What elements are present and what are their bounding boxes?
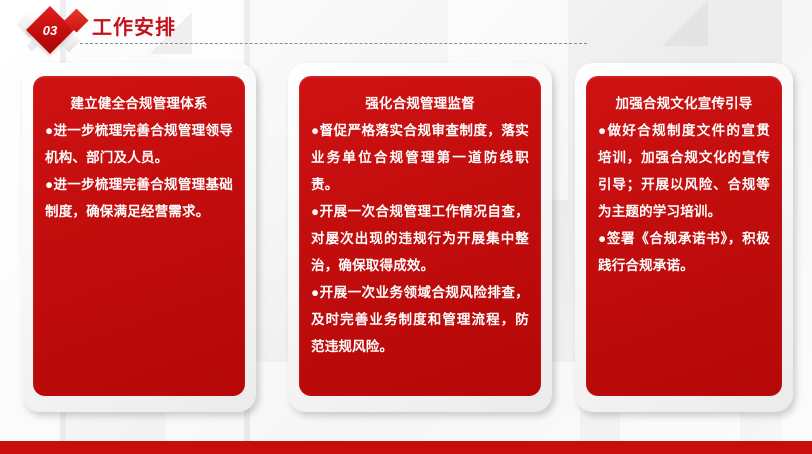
slide-canvas: 03 工作安排 建立健全合规管理体系 ●进一步梳理完善合规管理领导机构、部门及人…	[0, 0, 812, 454]
content-card[interactable]: 强化合规管理监督 ●督促严格落实合规审查制度，落实业务单位合规管理第一道防线职责…	[288, 63, 552, 412]
content-card-panel: 建立健全合规管理体系 ●进一步梳理完善合规管理领导机构、部门及人员。 ●进一步梳…	[33, 76, 245, 396]
content-card-heading: 建立健全合规管理体系	[45, 90, 233, 117]
content-card-body: 强化合规管理监督 ●督促严格落实合规审查制度，落实业务单位合规管理第一道防线职责…	[299, 76, 541, 370]
content-card-bullet: ●开展一次业务领域合规风险排查，及时完善业务制度和管理流程，防范违规风险。	[311, 279, 529, 360]
content-card-bullet: ●做好合规制度文件的宣贯培训，加强合规文化的宣传引导；开展以风险、合规等为主题的…	[598, 117, 770, 225]
content-card-bullet: ●进一步梳理完善合规管理领导机构、部门及人员。	[45, 117, 233, 171]
content-card-body: 建立健全合规管理体系 ●进一步梳理完善合规管理领导机构、部门及人员。 ●进一步梳…	[33, 76, 245, 235]
content-card-bullet: ●签署《合规承诺书》，积极践行合规承诺。	[598, 225, 770, 279]
content-card-heading: 加强合规文化宣传引导	[598, 90, 770, 117]
content-card-heading: 强化合规管理监督	[311, 90, 529, 117]
slide-header: 03 工作安排	[0, 0, 812, 58]
content-card-body: 加强合规文化宣传引导 ●做好合规制度文件的宣贯培训，加强合规文化的宣传引导；开展…	[586, 76, 782, 289]
content-card-bullet: ●督促严格落实合规审查制度，落实业务单位合规管理第一道防线职责。	[311, 117, 529, 198]
footer-accent-bar	[0, 441, 812, 454]
content-card-panel: 强化合规管理监督 ●督促严格落实合规审查制度，落实业务单位合规管理第一道防线职责…	[299, 76, 541, 396]
content-card-bullet: ●开展一次合规管理工作情况自查，对屡次出现的违规行为开展集中整治，确保取得成效。	[311, 198, 529, 279]
section-number-badge: 03	[33, 13, 67, 47]
content-card-bullet: ●进一步梳理完善合规管理基础制度，确保满足经营需求。	[45, 171, 233, 225]
content-card[interactable]: 加强合规文化宣传引导 ●做好合规制度文件的宣贯培训，加强合规文化的宣传引导；开展…	[575, 63, 793, 412]
page-title: 工作安排	[92, 11, 176, 40]
content-card-panel: 加强合规文化宣传引导 ●做好合规制度文件的宣贯培训，加强合规文化的宣传引导；开展…	[586, 76, 782, 396]
content-card[interactable]: 建立健全合规管理体系 ●进一步梳理完善合规管理领导机构、部门及人员。 ●进一步梳…	[22, 63, 256, 412]
header-divider	[80, 43, 587, 44]
